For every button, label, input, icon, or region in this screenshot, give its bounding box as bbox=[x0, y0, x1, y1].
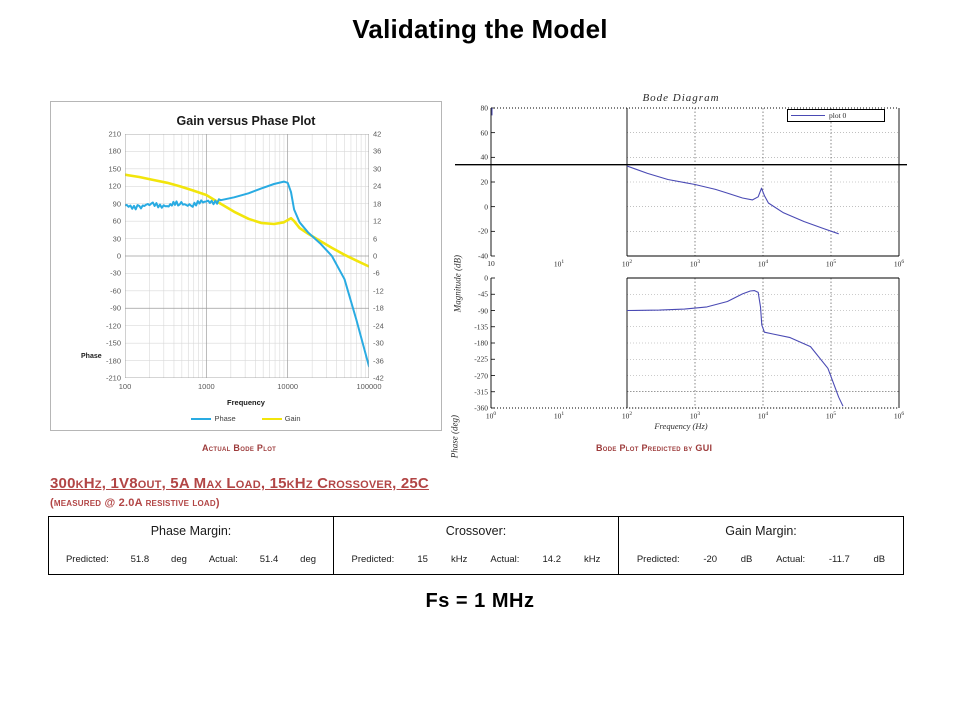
bode-mag-ytick-80: 80 bbox=[458, 104, 488, 113]
bode-phase-ytick--45: -45 bbox=[458, 290, 488, 299]
left-chart-y-axis-right: 42363024181260-6-12-18-24-30-36-42 bbox=[373, 134, 409, 378]
left-chart-ytick-0: 0 bbox=[117, 252, 121, 261]
legend-swatch-phase bbox=[191, 418, 211, 420]
left-chart-ytick--180: -180 bbox=[106, 356, 121, 365]
bode-mag-ytick-20: 20 bbox=[458, 178, 488, 187]
phase-margin-actual-unit: deg bbox=[300, 554, 316, 565]
left-chart-y2tick--30: -30 bbox=[373, 339, 384, 348]
left-chart-ytick-150: 150 bbox=[108, 164, 121, 173]
legend-label-gain: Gain bbox=[285, 414, 301, 423]
table-row-headers: Phase Margin: Crossover: Gain Margin: bbox=[49, 517, 904, 545]
test-conditions-line1: 300kHz, 1V8out, 5A Max Load, 15kHz Cross… bbox=[50, 475, 429, 492]
left-chart-xtick-100: 100 bbox=[119, 382, 132, 391]
crossover-actual-label: Actual: bbox=[490, 554, 519, 565]
left-chart-y2tick-36: 36 bbox=[373, 147, 381, 156]
actual-bode-plot-chart: Gain versus Phase Plot 21018015012090603… bbox=[50, 101, 442, 431]
left-chart-y2tick-30: 30 bbox=[373, 164, 381, 173]
left-chart-ytick--150: -150 bbox=[106, 339, 121, 348]
bode-phase-ytick--315: -315 bbox=[458, 387, 488, 396]
phase-margin-actual-label: Actual: bbox=[209, 554, 238, 565]
bode-legend-swatch bbox=[791, 115, 825, 116]
bode-mag-xtick-6: 106 bbox=[894, 259, 904, 269]
bode-phase-xtick-5: 105 bbox=[826, 411, 836, 421]
bode-phase-ytick--90: -90 bbox=[458, 306, 488, 315]
gain-margin-actual-label: Actual: bbox=[776, 554, 805, 565]
left-chart-ytick-30: 30 bbox=[113, 234, 121, 243]
bode-diagram-svg bbox=[455, 90, 907, 431]
phase-margin-predicted-label: Predicted: bbox=[66, 554, 109, 565]
gain-margin-actual-unit: dB bbox=[874, 554, 886, 565]
left-chart-y2tick-42: 42 bbox=[373, 130, 381, 139]
bode-mag-xtick-2: 102 bbox=[622, 259, 632, 269]
results-cell-phase-margin: Predicted: 51.8 deg Actual: 51.4 deg bbox=[49, 544, 334, 575]
bode-mag-xtick-0: 10 bbox=[487, 259, 495, 268]
bode-phase-ytick--225: -225 bbox=[458, 355, 488, 364]
left-chart-svg bbox=[125, 134, 369, 378]
bode-phase-ytick-0: 0 bbox=[458, 274, 488, 283]
bode-phase-ytick--180: -180 bbox=[458, 339, 488, 348]
page-title: Validating the Model bbox=[0, 14, 960, 45]
bode-phase-xtick-3: 103 bbox=[690, 411, 700, 421]
bode-mag-xtick-1: 101 bbox=[554, 259, 564, 269]
gain-margin-actual-value: -11.7 bbox=[829, 554, 850, 565]
predicted-bode-plot-chart: Bode Diagram Magnitude (dB) Phase (deg) … bbox=[455, 90, 907, 431]
results-cell-gain-margin: Predicted: -20 dB Actual: -11.7 dB bbox=[619, 544, 904, 575]
table-row-values: Predicted: 51.8 deg Actual: 51.4 deg Pre… bbox=[49, 544, 904, 575]
results-table: Phase Margin: Crossover: Gain Margin: Pr… bbox=[48, 516, 904, 575]
gain-margin-predicted-label: Predicted: bbox=[637, 554, 680, 565]
phase-margin-actual-value: 51.4 bbox=[260, 554, 279, 565]
caption-predicted-bode-plot: Bode Plot Predicted by GUI bbox=[596, 443, 712, 453]
left-chart-y-axis-left: 2101801501209060300-30-60-90-120-150-180… bbox=[85, 134, 121, 378]
phase-margin-predicted-value: 51.8 bbox=[131, 554, 150, 565]
legend-item-gain: Gain bbox=[262, 414, 301, 423]
bode-mag-xtick-5: 105 bbox=[826, 259, 836, 269]
results-header-gain-margin: Gain Margin: bbox=[619, 517, 904, 545]
left-chart-y2tick-18: 18 bbox=[373, 199, 381, 208]
gain-margin-predicted-value: -20 bbox=[703, 554, 717, 565]
left-chart-ytick--30: -30 bbox=[110, 269, 121, 278]
left-chart-ytick-120: 120 bbox=[108, 182, 121, 191]
left-chart-ytick--120: -120 bbox=[106, 321, 121, 330]
switching-frequency-note: Fs = 1 MHz bbox=[0, 590, 960, 613]
bode-phase-xtick-6: 106 bbox=[894, 411, 904, 421]
crossover-actual-unit: kHz bbox=[584, 554, 600, 565]
left-chart-y2tick-6: 6 bbox=[373, 234, 377, 243]
left-chart-y-axis-title: Phase bbox=[81, 353, 102, 360]
left-chart-y2tick-0: 0 bbox=[373, 252, 377, 261]
left-chart-title: Gain versus Phase Plot bbox=[51, 114, 441, 128]
left-chart-xtick-10000: 10000 bbox=[277, 382, 298, 391]
left-chart-ytick--90: -90 bbox=[110, 304, 121, 313]
left-chart-y2tick-24: 24 bbox=[373, 182, 381, 191]
left-chart-y2tick--24: -24 bbox=[373, 321, 384, 330]
gain-margin-predicted-unit: dB bbox=[741, 554, 753, 565]
bode-phase-xtick-1: 101 bbox=[554, 411, 564, 421]
legend-item-phase: Phase bbox=[191, 414, 235, 423]
bode-mag-ytick--20: -20 bbox=[458, 227, 488, 236]
left-chart-plot-area bbox=[125, 134, 369, 378]
bode-mag-ytick-0: 0 bbox=[458, 202, 488, 211]
results-header-crossover: Crossover: bbox=[334, 517, 619, 545]
results-cell-crossover: Predicted: 15 kHz Actual: 14.2 kHz bbox=[334, 544, 619, 575]
left-chart-y2tick--6: -6 bbox=[373, 269, 380, 278]
left-chart-y2tick--36: -36 bbox=[373, 356, 384, 365]
left-chart-ytick-210: 210 bbox=[108, 130, 121, 139]
bode-phase-ytick--135: -135 bbox=[458, 322, 488, 331]
left-chart-ytick-180: 180 bbox=[108, 147, 121, 156]
bode-legend: plot 0 bbox=[787, 109, 885, 122]
left-chart-x-axis-title: Frequency bbox=[51, 398, 441, 407]
left-chart-y2tick--18: -18 bbox=[373, 304, 384, 313]
left-chart-xtick-1000: 1000 bbox=[198, 382, 215, 391]
bode-mag-ytick-60: 60 bbox=[458, 128, 488, 137]
bode-legend-label: plot 0 bbox=[829, 111, 846, 120]
crossover-actual-value: 14.2 bbox=[542, 554, 561, 565]
phase-margin-predicted-unit: deg bbox=[171, 554, 187, 565]
crossover-predicted-unit: kHz bbox=[451, 554, 467, 565]
results-header-phase-margin: Phase Margin: bbox=[49, 517, 334, 545]
test-conditions-line2: (measured @ 2.0A resistive load) bbox=[50, 497, 220, 509]
bode-phase-ytick--270: -270 bbox=[458, 371, 488, 380]
left-chart-y2tick--12: -12 bbox=[373, 286, 384, 295]
left-chart-ytick-90: 90 bbox=[113, 199, 121, 208]
crossover-predicted-value: 15 bbox=[417, 554, 428, 565]
left-chart-xtick-100000: 100000 bbox=[356, 382, 381, 391]
left-chart-ytick-60: 60 bbox=[113, 217, 121, 226]
legend-swatch-gain bbox=[262, 418, 282, 420]
bode-phase-xtick-0: 100 bbox=[486, 411, 496, 421]
left-chart-y2tick-12: 12 bbox=[373, 217, 381, 226]
left-chart-legend: Phase Gain bbox=[51, 414, 441, 423]
bode-mag-xtick-4: 104 bbox=[758, 259, 768, 269]
bode-mag-xtick-3: 103 bbox=[690, 259, 700, 269]
left-chart-x-axis: 100100010000100000 bbox=[125, 382, 369, 396]
bode-phase-ytick--360: -360 bbox=[458, 404, 488, 413]
bode-mag-ytick--40: -40 bbox=[458, 252, 488, 261]
caption-actual-bode-plot: Actual Bode Plot bbox=[202, 443, 276, 453]
bode-mag-ytick-40: 40 bbox=[458, 153, 488, 162]
bode-phase-xtick-4: 104 bbox=[758, 411, 768, 421]
bode-phase-xtick-2: 102 bbox=[622, 411, 632, 421]
bode-x-axis-title: Frequency (Hz) bbox=[455, 421, 907, 431]
legend-label-phase: Phase bbox=[214, 414, 235, 423]
left-chart-ytick--60: -60 bbox=[110, 286, 121, 295]
crossover-predicted-label: Predicted: bbox=[352, 554, 395, 565]
